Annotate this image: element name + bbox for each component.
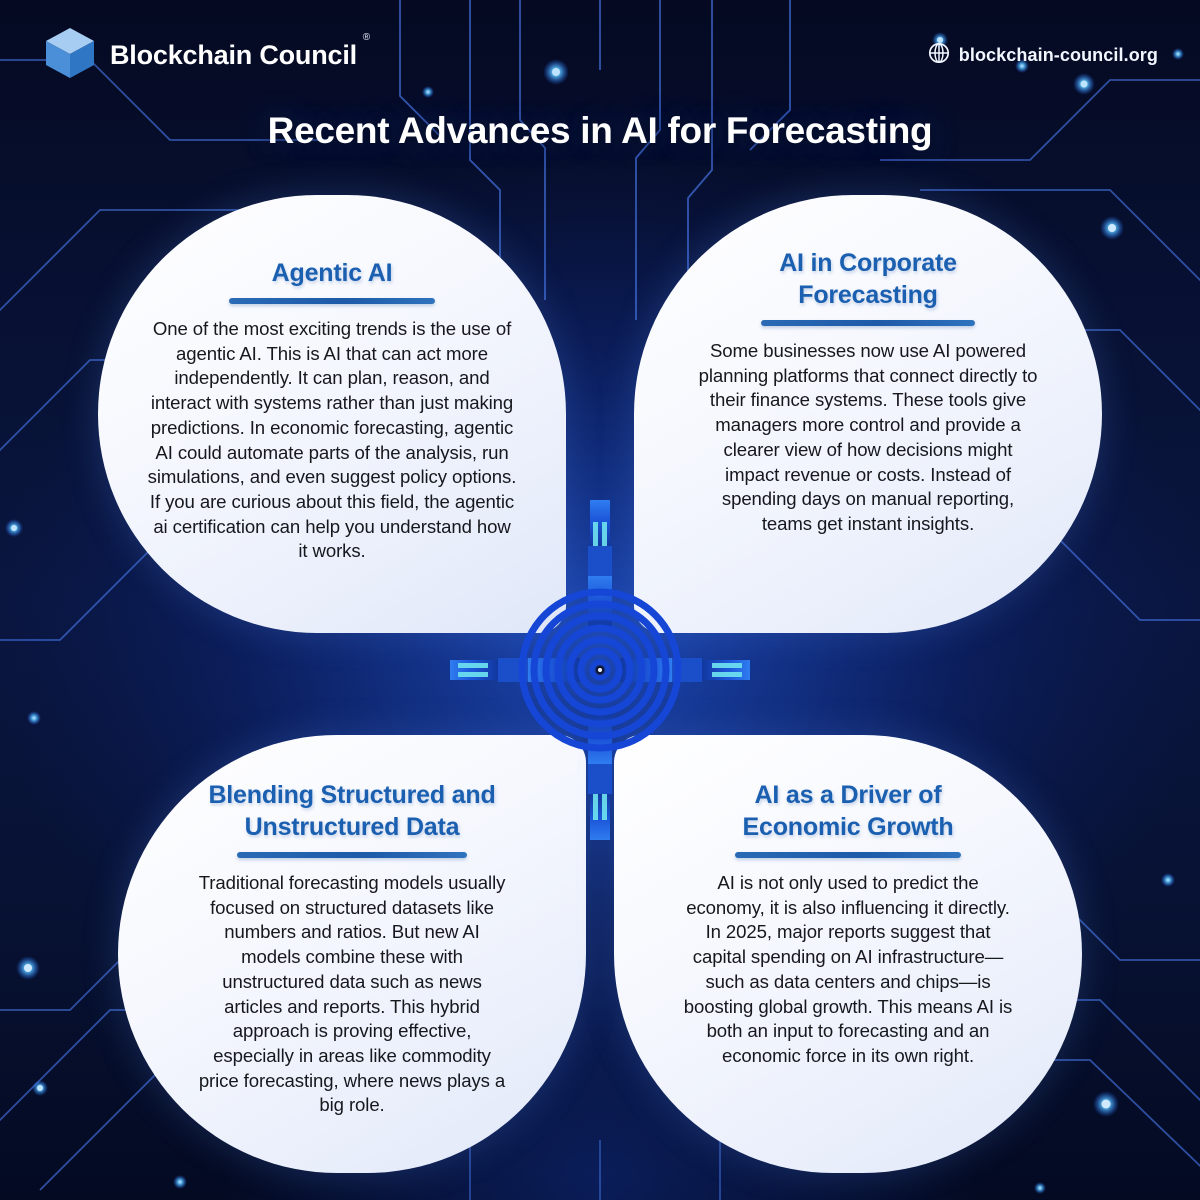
card-body: AI is not only used to predict the econo…: [683, 871, 1013, 1069]
card-body: Traditional forecasting models usually f…: [193, 871, 511, 1118]
brand-name: Blockchain Council®: [110, 40, 357, 71]
globe-icon: [928, 42, 950, 69]
title-underline: [761, 320, 975, 326]
page-title: Recent Advances in AI for Forecasting: [0, 110, 1200, 152]
card-title: AI in Corporate Forecasting: [718, 229, 1018, 311]
site-url-text: blockchain-council.org: [959, 45, 1158, 66]
cube-icon: [44, 26, 96, 85]
website-link[interactable]: blockchain-council.org: [928, 42, 1158, 69]
title-underline: [237, 852, 467, 858]
title-underline: [735, 852, 961, 858]
title-underline: [229, 298, 435, 304]
infographic-canvas: Blockchain Council® blockchain-council.o…: [0, 0, 1200, 1200]
registered-mark: ®: [363, 32, 370, 43]
brand-lockup[interactable]: Blockchain Council®: [44, 26, 357, 85]
concentric-target-icon: [450, 500, 750, 840]
card-title: Agentic AI: [272, 229, 393, 289]
